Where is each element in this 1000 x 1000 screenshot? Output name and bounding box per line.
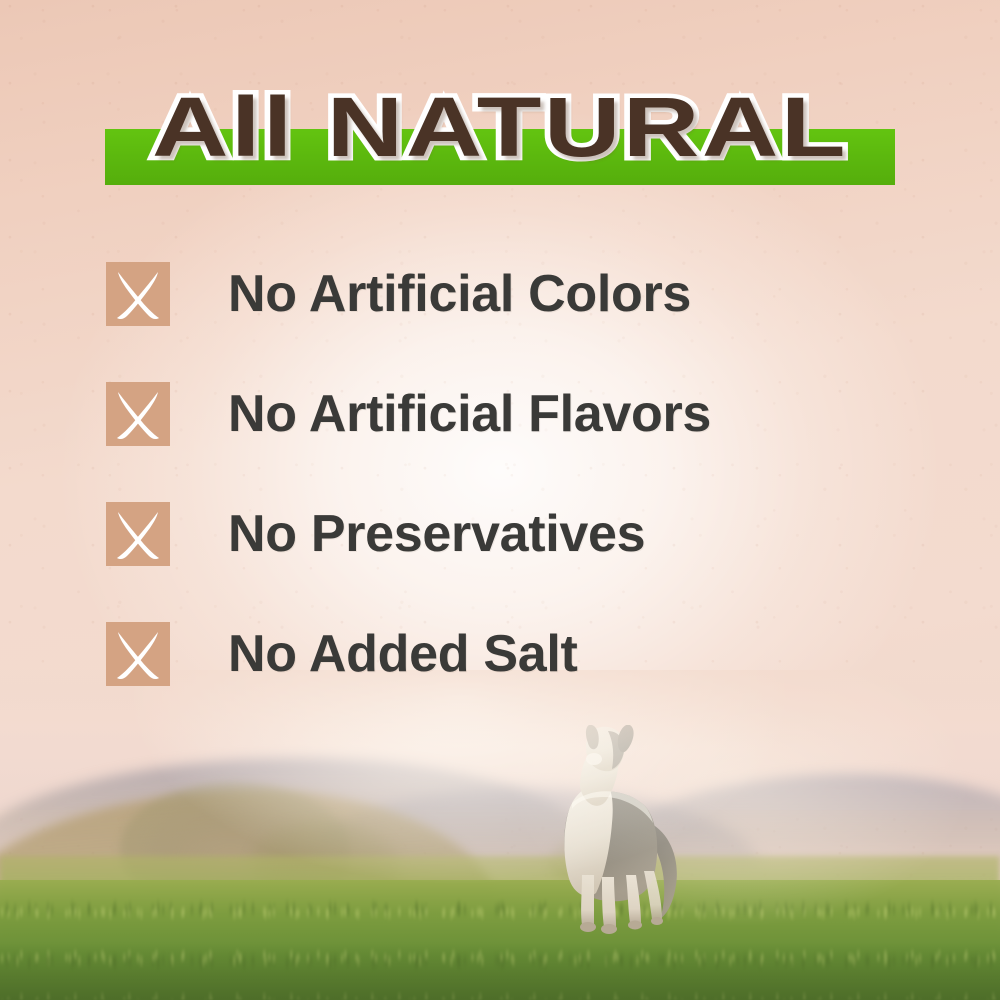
claim-row: No Artificial Colors bbox=[106, 262, 926, 326]
claim-label: No Artificial Colors bbox=[228, 262, 691, 326]
landscape-photo bbox=[0, 670, 1000, 1000]
headline-text: All NATURAL bbox=[0, 72, 1000, 182]
product-feature-panel: All NATURAL No Artificial Colors No Arti… bbox=[0, 0, 1000, 1000]
claim-label: No Preservatives bbox=[228, 502, 645, 566]
claim-label: No Added Salt bbox=[228, 622, 578, 686]
x-mark-icon bbox=[106, 382, 170, 446]
x-mark-icon bbox=[106, 502, 170, 566]
headline-block: All NATURAL bbox=[0, 72, 1000, 197]
claim-row: No Added Salt bbox=[106, 622, 926, 686]
dog-illustration bbox=[520, 725, 710, 945]
x-mark-icon bbox=[106, 262, 170, 326]
claims-list: No Artificial Colors No Artificial Flavo… bbox=[106, 262, 926, 686]
claim-row: No Artificial Flavors bbox=[106, 382, 926, 446]
claim-label: No Artificial Flavors bbox=[228, 382, 711, 446]
claim-row: No Preservatives bbox=[106, 502, 926, 566]
x-mark-icon bbox=[106, 622, 170, 686]
grass-shadow bbox=[0, 942, 1000, 1000]
